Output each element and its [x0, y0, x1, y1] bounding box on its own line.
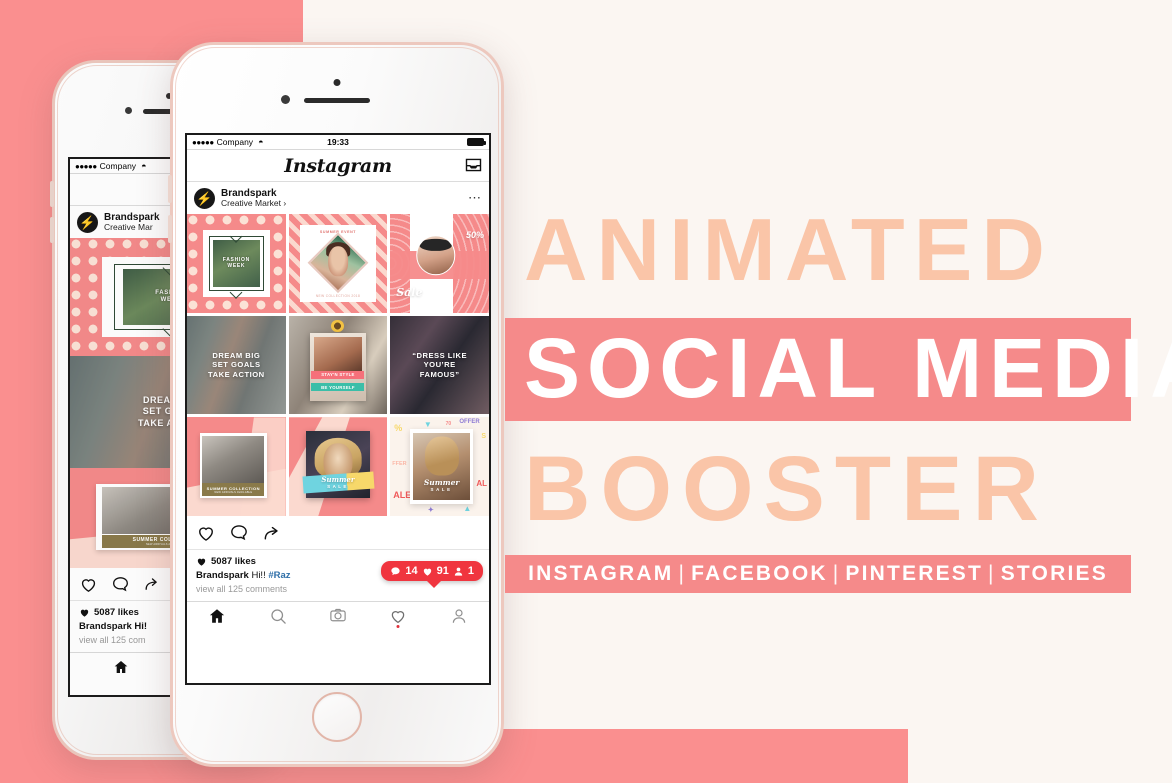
- tab-camera[interactable]: [329, 607, 347, 625]
- heart-outline-icon[interactable]: [196, 523, 216, 543]
- heart-outline-icon[interactable]: [79, 575, 98, 594]
- profile-name: Brandspark: [104, 212, 160, 223]
- platform-pinterest: PINTEREST: [845, 562, 983, 585]
- confetti-text-icon: S: [481, 433, 486, 440]
- post-portrait-face: [328, 247, 348, 277]
- profile-subtitle: Creative Market ›: [221, 199, 286, 209]
- screen-front: ●●●●● Company ◓ 19:33 Instagram ⚡ Brands…: [185, 133, 491, 685]
- heart-filled-icon: [422, 566, 433, 577]
- platform-separator: |: [673, 562, 691, 585]
- person-filled-icon: [453, 566, 464, 577]
- tab-home[interactable]: [112, 658, 130, 676]
- platform-facebook: FACEBOOK: [691, 562, 828, 585]
- post-label: DREAM BIGSET GOALSTAKE ACTION: [208, 351, 265, 379]
- post-quote: “DRESS LIKEYOU’REFAMOUS”: [390, 316, 489, 415]
- comment-bubble-icon[interactable]: [229, 523, 249, 543]
- person-outline-icon: [450, 607, 468, 625]
- post-photo: [202, 436, 264, 483]
- profile-subtitle: Creative Mar: [104, 223, 160, 233]
- post-sublabel: NEW COLLECTION 2018: [289, 294, 388, 298]
- direct-inbox-icon[interactable]: [465, 158, 482, 172]
- comment-bubble-icon[interactable]: [111, 575, 130, 594]
- app-header: Instagram: [187, 150, 489, 182]
- tab-home[interactable]: [208, 607, 226, 625]
- confetti-text-icon: ALE: [393, 490, 411, 500]
- post-label: Summer: [424, 478, 459, 487]
- confetti-text-icon: 70: [446, 421, 452, 427]
- battery-full-icon: [467, 138, 484, 146]
- post-discount-badge: 50%: [466, 230, 484, 240]
- app-logo: Instagram: [284, 155, 392, 177]
- share-arrow-icon[interactable]: [143, 575, 162, 594]
- post-card: Summer SALE: [306, 431, 369, 498]
- tab-profile[interactable]: [450, 607, 468, 625]
- volume-up-button[interactable]: [168, 175, 172, 203]
- post-label: Summer: [321, 475, 354, 484]
- headline-social-media: SOCIAL MEDIA: [524, 326, 1172, 410]
- poster-canvas: ●●●●● Company ◓ ⚡ Brandspark Creative Ma…: [0, 0, 1172, 783]
- post-sublabel: NEW ARRIVALS AVAILABLE: [214, 491, 252, 494]
- caption-username[interactable]: Brandspark: [196, 570, 249, 581]
- post-badge: FASHIONWEEK: [213, 240, 260, 287]
- platforms-list: INSTAGRAM|FACEBOOK|PINTEREST|STORIES: [528, 562, 1108, 586]
- confetti-text-icon: FFER: [392, 461, 406, 467]
- post-card: Summer SALE: [410, 429, 473, 504]
- action-bar: [187, 516, 489, 550]
- post-caption-block: Summer SALE: [306, 475, 369, 489]
- platforms-band: INSTAGRAM|FACEBOOK|PINTEREST|STORIES: [505, 555, 1131, 593]
- avatar[interactable]: ⚡: [77, 212, 98, 233]
- profile-name: Brandspark: [221, 188, 286, 199]
- confetti-triangle-icon: ▲: [463, 504, 471, 513]
- caption-hashtag[interactable]: #Raz: [268, 570, 290, 581]
- likes-count: 5087 likes: [94, 607, 139, 618]
- post-stay-in-style[interactable]: STAY'N STYLE BE YOURSELF: [289, 316, 388, 415]
- post-card: SUMMER COLLECTION NEW ARRIVALS AVAILABLE: [200, 433, 267, 498]
- post-portrait-hair: [425, 436, 459, 475]
- notification-comments-count: 14: [405, 565, 417, 577]
- post-summer-sale-blue[interactable]: Summer SALE: [289, 417, 388, 516]
- notification-likes-count: 91: [437, 565, 449, 577]
- sunflower-icon: [331, 320, 344, 333]
- post-sublabel: SALE: [306, 484, 369, 489]
- headline-booster: BOOSTER: [524, 443, 1049, 535]
- confetti-star-icon: ✦: [428, 506, 434, 514]
- heart-filled-icon: [79, 607, 90, 618]
- post-summer-sale-memphis[interactable]: % ▼ 70 OFFER S FFER ALE AL ✦ ▲ Summer: [390, 417, 489, 516]
- heart-outline-icon: [389, 607, 407, 625]
- volume-down-button[interactable]: [168, 215, 172, 243]
- notification-badge: 14 91 1: [381, 561, 483, 581]
- wifi-icon: ◓: [141, 161, 146, 171]
- tab-activity[interactable]: [389, 607, 407, 625]
- post-label: Sale: [396, 286, 422, 299]
- post-caption-block: SUMMER COLLECTION NEW ARRIVALS AVAILABLE: [202, 483, 264, 496]
- proximity-sensor-icon: [125, 107, 132, 114]
- post-caption-block: Summer SALE: [413, 478, 470, 492]
- comment-bubble-filled-icon: [390, 566, 401, 577]
- post-card: STAY'N STYLE BE YOURSELF: [310, 333, 365, 400]
- home-icon: [208, 607, 226, 625]
- post-summer-collection[interactable]: SUMMER COLLECTION NEW ARRIVALS AVAILABLE: [187, 417, 286, 516]
- post-meta: 5087 likes Brandspark Hi!! #Raz view all…: [187, 550, 489, 601]
- post-fashion-week[interactable]: FASHIONWEEK: [187, 214, 286, 313]
- front-camera-icon: [334, 79, 341, 86]
- hat-icon: [420, 239, 452, 252]
- post-sublabel: SALE: [413, 487, 470, 492]
- post-quote: DREAM BIGSET GOALSTAKE ACTION: [187, 316, 286, 415]
- post-summer-event[interactable]: SUMMER EVENT NEW COLLECTION 2018: [289, 214, 388, 313]
- heart-filled-icon: [196, 556, 207, 567]
- earpiece-speaker: [304, 98, 370, 103]
- post-label: FASHIONWEEK: [223, 257, 250, 270]
- platform-separator: |: [828, 562, 846, 585]
- volume-up-button[interactable]: [50, 181, 54, 207]
- post-dress-like-famous[interactable]: “DRESS LIKEYOU’REFAMOUS”: [390, 316, 489, 415]
- tab-search[interactable]: [269, 607, 287, 625]
- post-photo: [314, 337, 363, 372]
- home-button[interactable]: [312, 692, 362, 742]
- platform-stories: STORIES: [1001, 562, 1108, 585]
- post-dream-big[interactable]: DREAM BIGSET GOALSTAKE ACTION: [187, 316, 286, 415]
- post-label: “DRESS LIKEYOU’REFAMOUS”: [412, 351, 467, 379]
- post-sale-50[interactable]: 50% Sale: [390, 214, 489, 313]
- notification-followers-count: 1: [468, 565, 474, 577]
- proximity-sensor-icon: [281, 95, 290, 104]
- volume-down-button[interactable]: [50, 217, 54, 243]
- camera-icon: [329, 606, 347, 625]
- headline-animated: ANIMATED: [524, 206, 1054, 294]
- confetti-triangle-icon: ▼: [424, 420, 432, 429]
- clock-label: 19:33: [187, 137, 489, 147]
- caption-text: Hi!!: [249, 570, 266, 581]
- confetti-text-icon: AL: [476, 479, 487, 488]
- likes-count: 5087 likes: [211, 556, 256, 567]
- confetti-percent-icon: %: [394, 423, 402, 433]
- post-label: STAY'N STYLE: [311, 371, 364, 379]
- post-sublabel: BE YOURSELF: [311, 383, 364, 391]
- search-icon: [269, 607, 287, 625]
- tab-bar: [187, 601, 489, 629]
- platform-instagram: INSTAGRAM: [528, 562, 673, 585]
- confetti-text-icon: OFFER: [459, 419, 479, 425]
- share-arrow-icon[interactable]: [262, 523, 282, 543]
- carrier-label: Company: [100, 161, 136, 171]
- post-grid: FASHIONWEEK SUMMER EVENT NEW COLLECTION …: [187, 214, 489, 516]
- platform-separator: |: [983, 562, 1001, 585]
- phone-mockup-front: ●●●●● Company ◓ 19:33 Instagram ⚡ Brands…: [170, 42, 504, 767]
- status-bar: ●●●●● Company ◓ 19:33: [187, 135, 489, 150]
- post-photo: Summer SALE: [413, 433, 470, 500]
- signal-dots-icon: ●●●●●: [75, 162, 97, 171]
- activity-notification-dot: [397, 625, 400, 628]
- profile-row[interactable]: ⚡ Brandspark Creative Market › ⋯: [187, 182, 489, 214]
- more-options-icon[interactable]: ⋯: [468, 195, 482, 202]
- home-icon: [113, 659, 129, 675]
- avatar[interactable]: ⚡: [194, 188, 215, 209]
